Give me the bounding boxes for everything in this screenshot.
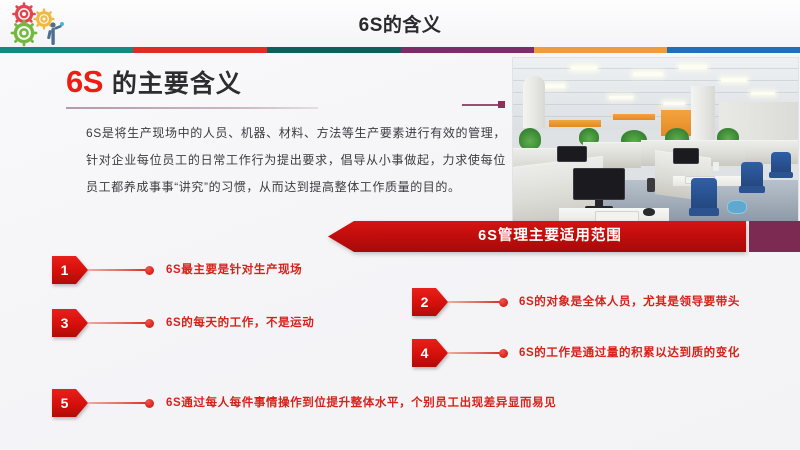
item-bullet-dot (145, 319, 154, 328)
bar-segment-red (133, 47, 267, 53)
item-bullet-dot (145, 266, 154, 275)
office-photo (512, 57, 799, 222)
item-bullet-dot (145, 399, 154, 408)
item-label: 6S的每天的工作，不是运动 (166, 314, 314, 330)
bar-segment-teal (0, 47, 133, 53)
list-item[interactable]: 3 6S的每天的工作，不是运动 (52, 309, 332, 337)
section-title-rest: 的主要含义 (112, 70, 242, 98)
banner-side-block (749, 221, 800, 252)
item-leader-line (88, 322, 146, 324)
title-underline (66, 107, 318, 109)
item-badge: 3 (52, 309, 88, 337)
section-banner-label: 6S管理主要适用范围 (354, 221, 746, 252)
bar-segment-orange (534, 47, 667, 53)
list-item[interactable]: 5 6S通过每人每件事情操作到位提升整体水平，个别员工出现差异显而易见 (52, 389, 672, 417)
item-number: 3 (52, 309, 77, 337)
section-title: 6S的主要含义 (66, 64, 242, 100)
item-label: 6S的对象是全体人员，尤其是领导要带头 (519, 293, 740, 309)
item-leader-line (88, 269, 146, 271)
list-item[interactable]: 2 6S的对象是全体人员，尤其是领导要带头 (412, 288, 772, 316)
bar-segment-purple (401, 47, 534, 53)
item-bullet-dot (499, 349, 508, 358)
item-label: 6S最主要是针对生产现场 (166, 261, 302, 277)
item-number: 5 (52, 389, 77, 417)
item-badge: 4 (412, 339, 448, 367)
section-title-accent: 6S (66, 64, 103, 99)
section-banner: 6S管理主要适用范围 (328, 221, 746, 252)
slide-header: 6S的含义 (0, 0, 800, 53)
item-badge: 1 (52, 256, 88, 284)
item-label: 6S通过每人每件事情操作到位提升整体水平，个别员工出现差异显而易见 (166, 394, 556, 410)
photo-connector-dot (498, 101, 505, 108)
slide-canvas: 6S的含义 6S的主要含义 6S是将生产现场中的人员、机器、材料、方法等生产要素… (0, 0, 800, 450)
list-item[interactable]: 1 6S最主要是针对生产现场 (52, 256, 312, 284)
item-number: 1 (52, 256, 77, 284)
item-number: 2 (412, 288, 437, 316)
header-color-bar (0, 47, 800, 53)
item-leader-line (88, 402, 146, 404)
item-number: 4 (412, 339, 437, 367)
list-item[interactable]: 4 6S的工作是通过量的积累以达到质的变化 (412, 339, 772, 367)
page-title: 6S的含义 (0, 10, 800, 37)
item-leader-line (448, 352, 500, 354)
bar-segment-dark-teal (267, 47, 401, 53)
item-leader-line (448, 301, 500, 303)
item-label: 6S的工作是通过量的积累以达到质的变化 (519, 344, 740, 360)
bar-segment-blue (667, 47, 800, 53)
item-bullet-dot (499, 298, 508, 307)
office-photo-content (513, 58, 798, 221)
body-paragraph: 6S是将生产现场中的人员、机器、材料、方法等生产要素进行有效的管理，针对企业每位… (86, 120, 506, 201)
item-badge: 2 (412, 288, 448, 316)
item-badge: 5 (52, 389, 88, 417)
